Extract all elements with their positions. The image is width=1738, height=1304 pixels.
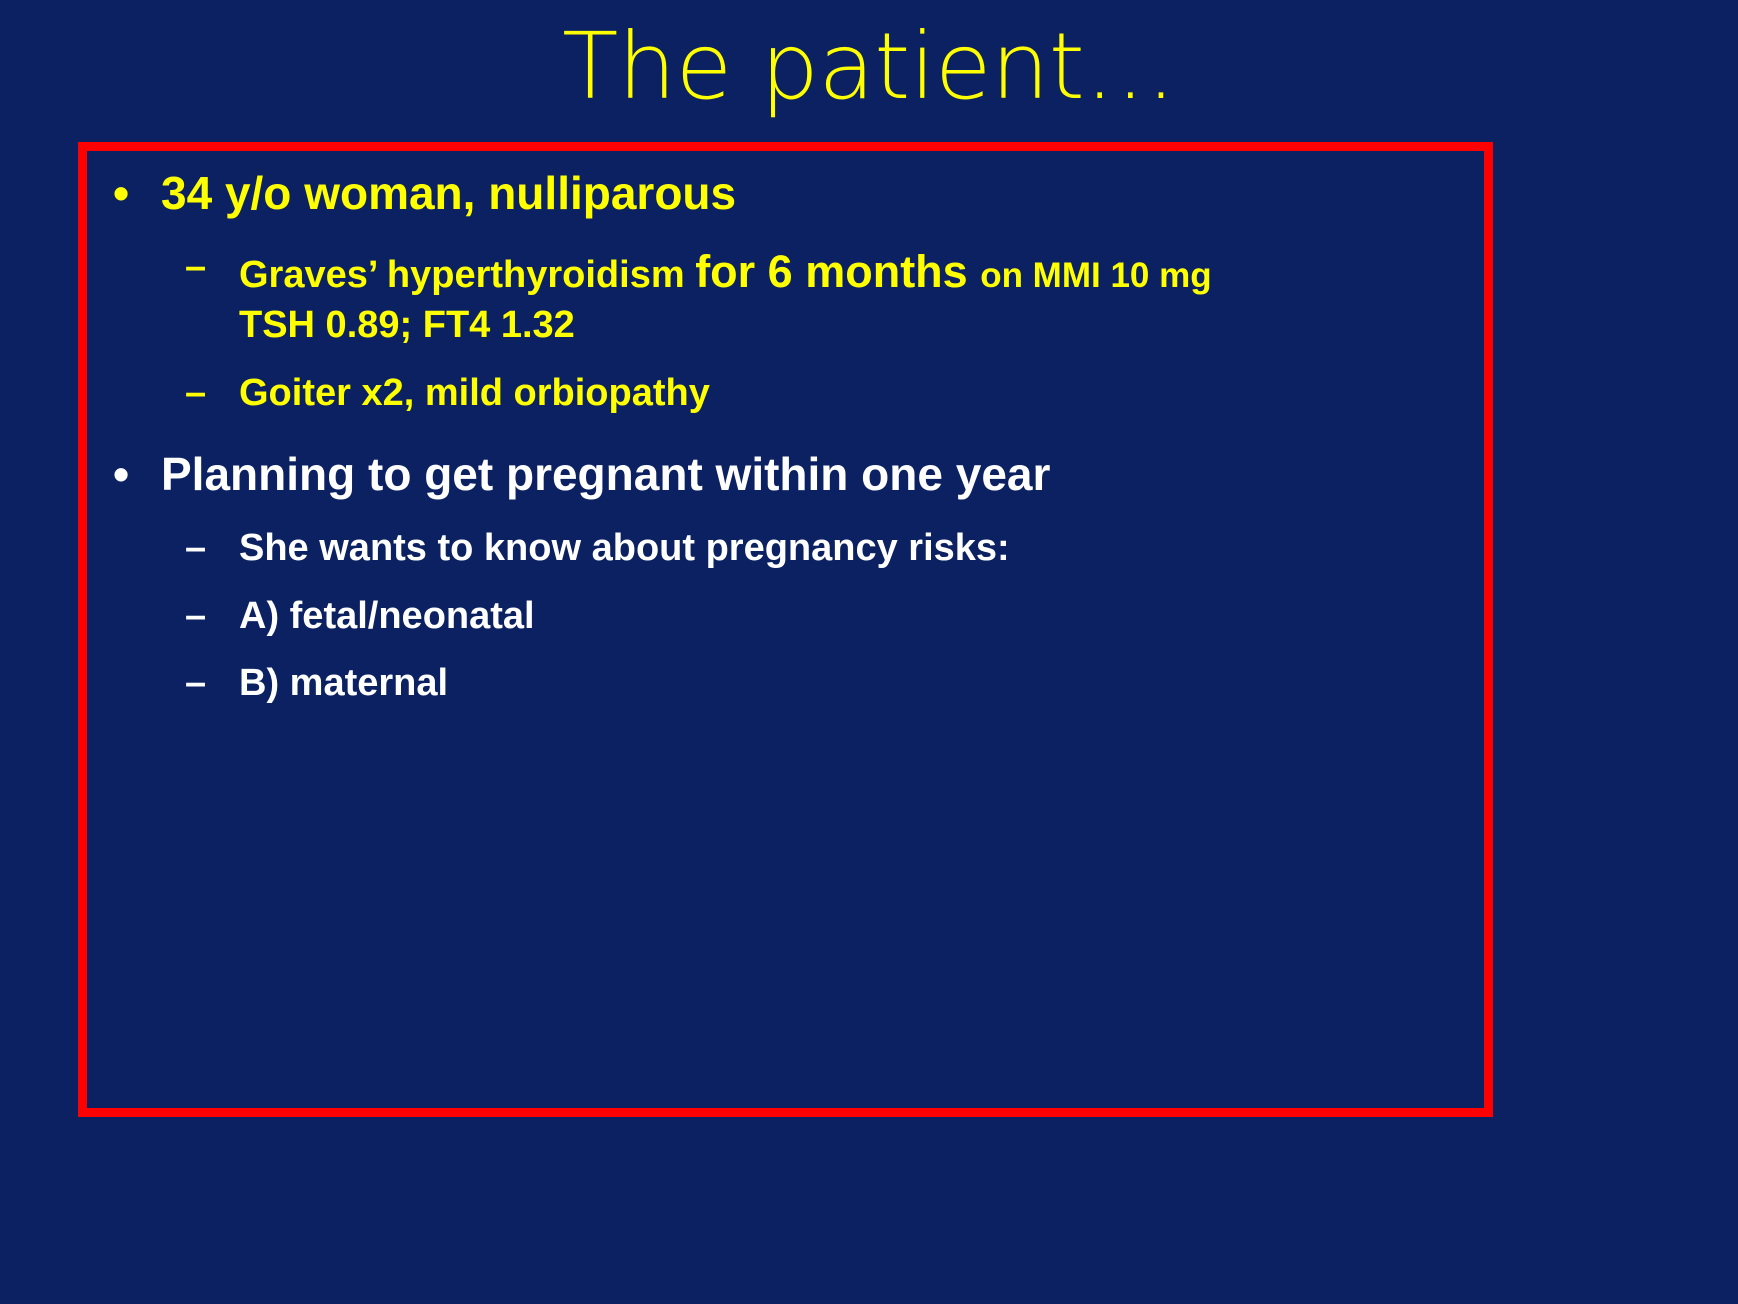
- bullet-dash-icon: –: [185, 592, 239, 641]
- list-item-label: B) maternal: [239, 659, 1487, 708]
- list-item: – Goiter x2, mild orbiopathy: [87, 369, 1487, 418]
- bullet-dash-icon: –: [185, 369, 239, 418]
- bullet-dash-icon: –: [185, 659, 239, 708]
- spacer: [87, 508, 1487, 524]
- list-item: – Graves’ hyperthyroidism for 6 months o…: [87, 243, 1487, 351]
- list-item-label: Graves’ hyperthyroidism for 6 months on …: [239, 243, 1487, 351]
- bullet-dash-icon: –: [185, 524, 239, 573]
- content-body-box: • 34 y/o woman, nulliparous – Graves’ hy…: [78, 142, 1493, 1117]
- run-duration: for 6 months: [695, 246, 980, 297]
- spacer: [87, 353, 1487, 369]
- list-item-label: Planning to get pregnant within one year: [161, 446, 1487, 504]
- list-item: – She wants to know about pregnancy risk…: [87, 524, 1487, 573]
- list-item-label: A) fetal/neonatal: [239, 592, 1487, 641]
- slide-title: The patient…: [0, 14, 1738, 120]
- run-medication: on MMI 10 mg: [980, 256, 1211, 295]
- list-item-label: 34 y/o woman, nulliparous: [161, 165, 1487, 223]
- spacer: [87, 643, 1487, 659]
- list-item-label: She wants to know about pregnancy risks:: [239, 524, 1487, 573]
- list-item: • 34 y/o woman, nulliparous: [87, 165, 1487, 223]
- run-labs: TSH 0.89; FT4 1.32: [239, 304, 575, 346]
- bullet-dot-icon: •: [103, 165, 161, 223]
- bullet-list: • 34 y/o woman, nulliparous – Graves’ hy…: [87, 165, 1487, 710]
- list-item: • Planning to get pregnant within one ye…: [87, 446, 1487, 504]
- spacer: [87, 420, 1487, 446]
- presentation-slide: The patient… • 34 y/o woman, nulliparous…: [0, 0, 1738, 1304]
- bullet-dot-icon: •: [103, 446, 161, 504]
- bullet-dash-icon: –: [185, 243, 239, 292]
- run-diagnosis: Graves’ hyperthyroidism: [239, 254, 695, 296]
- list-item: – B) maternal: [87, 659, 1487, 708]
- spacer: [87, 227, 1487, 243]
- list-item-label: Goiter x2, mild orbiopathy: [239, 369, 1487, 418]
- spacer: [87, 576, 1487, 592]
- list-item: – A) fetal/neonatal: [87, 592, 1487, 641]
